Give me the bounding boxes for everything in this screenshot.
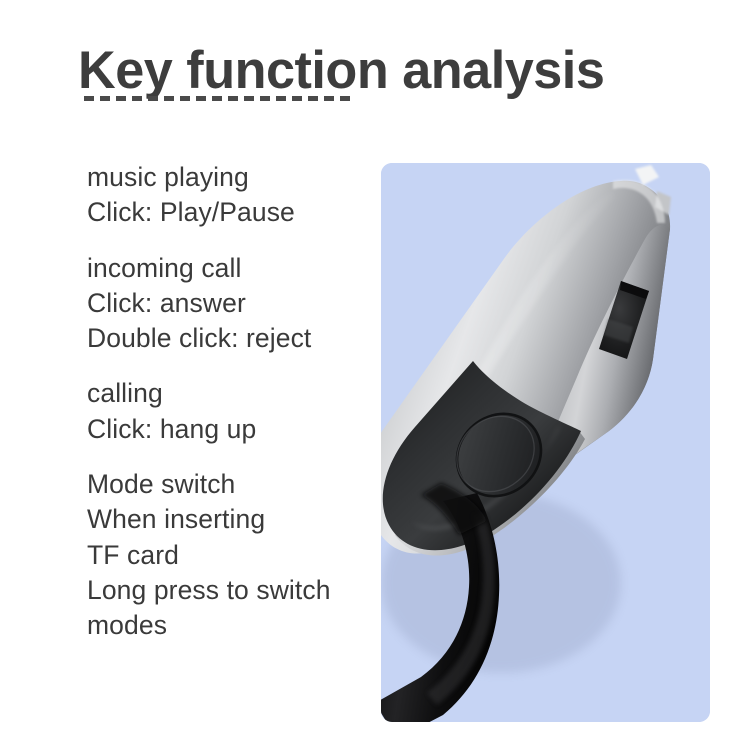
feature-line: Long press to switch: [87, 573, 377, 608]
feature-list: music playing Click: Play/Pause incoming…: [87, 160, 377, 644]
feature-group-music-playing: music playing Click: Play/Pause: [87, 160, 377, 231]
feature-line: Click: hang up: [87, 412, 377, 447]
page-title: Key function analysis: [78, 40, 708, 102]
feature-line: Mode switch: [87, 467, 377, 502]
dashed-divider: [84, 96, 356, 101]
product-feature-page: Key function analysis music playing Clic…: [0, 0, 750, 750]
feature-group-calling: calling Click: hang up: [87, 376, 377, 447]
product-image-panel: [381, 163, 710, 722]
feature-line: calling: [87, 376, 377, 411]
car-charger-photo: [381, 163, 710, 722]
feature-line: TF card: [87, 538, 377, 573]
feature-group-mode-switch: Mode switch When inserting TF card Long …: [87, 467, 377, 643]
feature-line: Click: Play/Pause: [87, 195, 377, 230]
feature-line: incoming call: [87, 251, 377, 286]
feature-line: Double click: reject: [87, 321, 377, 356]
feature-line: Click: answer: [87, 286, 377, 321]
feature-group-incoming-call: incoming call Click: answer Double click…: [87, 251, 377, 357]
feature-line: When inserting: [87, 502, 377, 537]
feature-line: music playing: [87, 160, 377, 195]
feature-line: modes: [87, 608, 377, 643]
